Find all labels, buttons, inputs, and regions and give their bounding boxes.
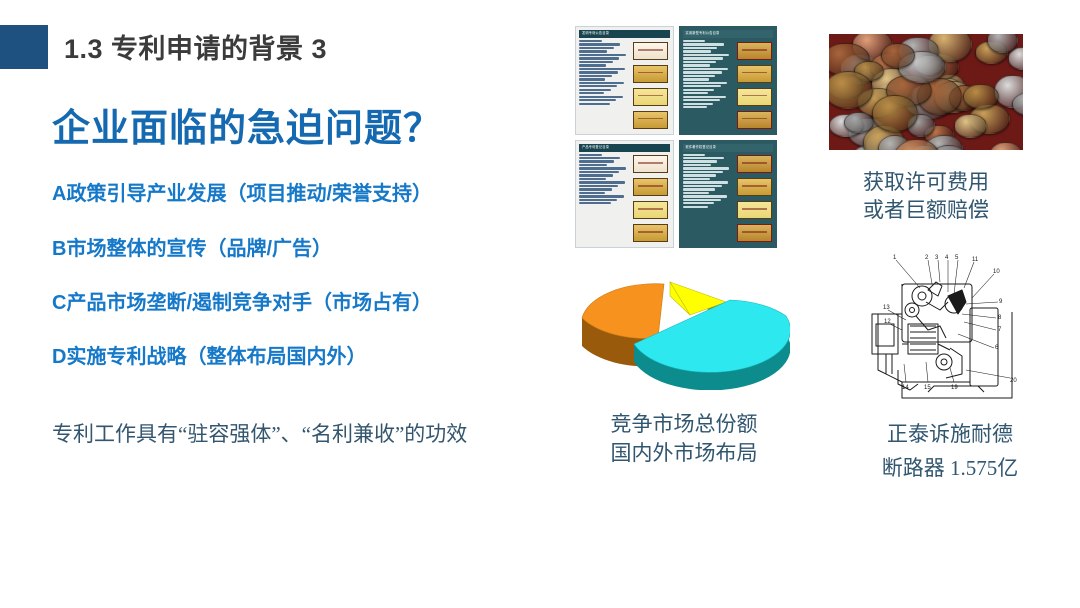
certificate-line [683,157,724,159]
certificate-panel-body [579,152,670,245]
certificate-line [683,160,718,162]
patent-callout-numbers: 123 4511 1098 7620 191514 1312 [883,255,1017,391]
patent-caption-line2: 断路器 1.575亿 [845,452,1055,486]
certificate-line [683,202,715,204]
certificate-panel: 软件著作权登记目录 [679,140,778,249]
certificate-line [579,195,624,197]
certificate-line [683,78,709,80]
certificate-line [683,61,717,63]
bullet-item-d: D实施专利战略（整体布局国内外） [52,340,366,369]
certificate-line [579,71,618,73]
certificate-line [683,178,710,180]
certificate-line [683,103,714,105]
certificate-line [683,167,730,169]
certificate-thumbnail [633,111,668,129]
certificate-line [683,199,721,201]
svg-text:11: 11 [972,257,979,263]
coins-caption-line2: 或者巨额赔偿 [827,196,1025,224]
svg-text:20: 20 [1010,378,1017,384]
bullet-item-b: B市场整体的宣传（品牌/广告） [52,232,332,261]
certificates-grid: 发明专利公告目录 实用新型专利公告目录 [575,26,777,248]
certificate-line [579,68,625,70]
certificate-line-list [683,154,734,245]
svg-text:4: 4 [945,255,949,261]
certificate-line [683,85,721,87]
certificate-line-list [579,40,630,131]
certificate-line [579,164,607,166]
svg-text:9: 9 [999,299,1003,305]
certificate-line [683,89,715,91]
certificate-line [683,47,718,49]
certificate-line [683,54,730,56]
bullet-item-c: C产品市场垄断/遏制竞争对手（市场占有） [52,286,432,315]
certificate-line [683,82,728,84]
coins-caption: 获取许可费用 或者巨额赔偿 [827,168,1025,225]
bullet-item-a: A政策引导产业发展（项目推动/荣誉支持） [52,177,432,206]
page-title: 1.3 专利申请的背景 3 [64,27,327,66]
svg-text:2: 2 [925,255,929,261]
certificate-line [579,99,616,101]
coin [872,95,917,132]
certificate-line [579,171,619,173]
svg-text:3: 3 [935,255,939,261]
certificate-line [683,106,707,108]
pie-chart [578,272,790,390]
certificate-line [579,188,612,190]
certificate-panel-body [683,152,774,245]
certificate-line [683,181,729,183]
certificate-line [683,171,723,173]
certificate-line [579,57,619,59]
certificate-line [683,43,724,45]
certificate-line-list [579,154,630,245]
pie-chart-caption: 竞争市场总份额 国内外市场布局 [578,410,790,469]
certificate-line [683,75,716,77]
certificate-thumbnail [633,224,668,242]
certificate-line [579,157,620,159]
certificate-thumbnail [737,178,772,196]
svg-text:13: 13 [883,305,890,311]
certificate-line [683,96,727,98]
certificate-line [579,61,613,63]
svg-text:10: 10 [993,269,1000,275]
pie-chart-svg [578,272,790,390]
coins-photo [827,32,1025,152]
certificate-line [683,188,716,190]
certificate-line [683,99,720,101]
certificate-thumbnail [737,155,772,173]
svg-text:7: 7 [998,327,1002,333]
footnote-text: 专利工作具有“驻容强体”、“名利兼收”的功效 [52,418,467,448]
certificate-line [579,75,612,77]
certificate-thumbnail [633,42,668,60]
certificate-thumbnail [633,155,668,173]
certificate-line [579,199,617,201]
certificate-line [579,92,604,94]
title-marker [0,25,48,69]
certificate-panel-header: 实用新型专利公告目录 [683,30,774,38]
coin [827,71,873,108]
certificate-thumbnail [633,65,668,83]
certificate-line [579,47,614,49]
certificate-thumbnail [633,201,668,219]
certificate-line [579,154,602,156]
certificate-line [579,202,611,204]
certificate-thumbnail [633,178,668,196]
certificate-thumbnail [737,111,772,129]
certificate-line [683,174,717,176]
certificate-line [579,78,605,80]
certificate-thumbnails [632,154,670,245]
certificate-line [683,92,708,94]
certificate-thumbnail [737,42,772,60]
patent-caption-line1: 正泰诉施耐德 [845,418,1055,452]
certificate-line [683,185,722,187]
certificate-line [683,64,710,66]
certificate-line [579,40,602,42]
certificate-line [683,68,729,70]
coin [954,114,987,138]
certificate-line [579,181,625,183]
certificate-line [683,206,708,208]
certificate-line [683,195,728,197]
certificate-line [579,50,607,52]
certificate-panel: 实用新型专利公告目录 [679,26,778,135]
svg-text:14: 14 [902,385,909,391]
coin [989,142,1023,152]
certificate-panel-header: 软件著作权登记目录 [683,144,774,152]
certificate-line [683,71,722,73]
certificate-thumbnail [737,65,772,83]
certificate-thumbnail [737,88,772,106]
certificate-line [683,192,709,194]
certificates-figure: 发明专利公告目录 实用新型专利公告目录 [569,18,783,254]
certificate-line [579,160,614,162]
certificate-panel-header: 发明专利公告目录 [579,30,670,38]
svg-text:12: 12 [884,319,891,325]
coin [963,84,999,109]
patent-drawing-svg: 123 4511 1098 7620 191514 1312 [862,252,1038,404]
certificate-panel: 发明专利公告目录 [575,26,674,135]
certificate-thumbnails [735,40,773,131]
certificate-line [579,178,606,180]
certificate-line [683,164,711,166]
pie-caption-line1: 竞争市场总份额 [578,410,790,439]
svg-text:15: 15 [924,385,931,391]
certificate-line-list [683,40,734,131]
certificate-line [579,103,610,105]
certificate-thumbnails [632,40,670,131]
coin [844,112,874,133]
certificate-panel: 产品专利登记目录 [575,140,674,249]
certificate-line [579,54,626,56]
pie-caption-line2: 国内外市场布局 [578,439,790,468]
certificate-line [579,167,626,169]
svg-text:19: 19 [951,385,958,391]
certificate-line [579,192,605,194]
patent-drawing-caption: 正泰诉施耐德 断路器 1.575亿 [845,418,1055,485]
certificate-line [683,57,723,59]
certificate-thumbnails [735,154,773,245]
headline: 企业面临的急迫问题？ [52,97,442,152]
certificate-panel-body [579,38,670,131]
svg-text:8: 8 [998,315,1002,321]
certificate-line [579,96,623,98]
certificate-thumbnail [737,224,772,242]
certificate-line [579,185,618,187]
certificate-panel-body [683,38,774,131]
certificate-thumbnail [633,88,668,106]
certificate-line [579,82,624,84]
certificate-thumbnail [737,201,772,219]
coins-caption-line1: 获取许可费用 [827,168,1025,196]
certificate-line [579,64,606,66]
certificate-line [683,50,711,52]
certificate-line [579,85,617,87]
certificate-line [579,89,611,91]
patent-drawing: 123 4511 1098 7620 191514 1312 [862,252,1038,404]
certificate-line [683,40,706,42]
certificate-panel-header: 产品专利登记目录 [579,144,670,152]
svg-text:5: 5 [955,255,959,261]
certificate-line [579,174,613,176]
certificate-line [579,43,620,45]
certificate-line [683,154,706,156]
